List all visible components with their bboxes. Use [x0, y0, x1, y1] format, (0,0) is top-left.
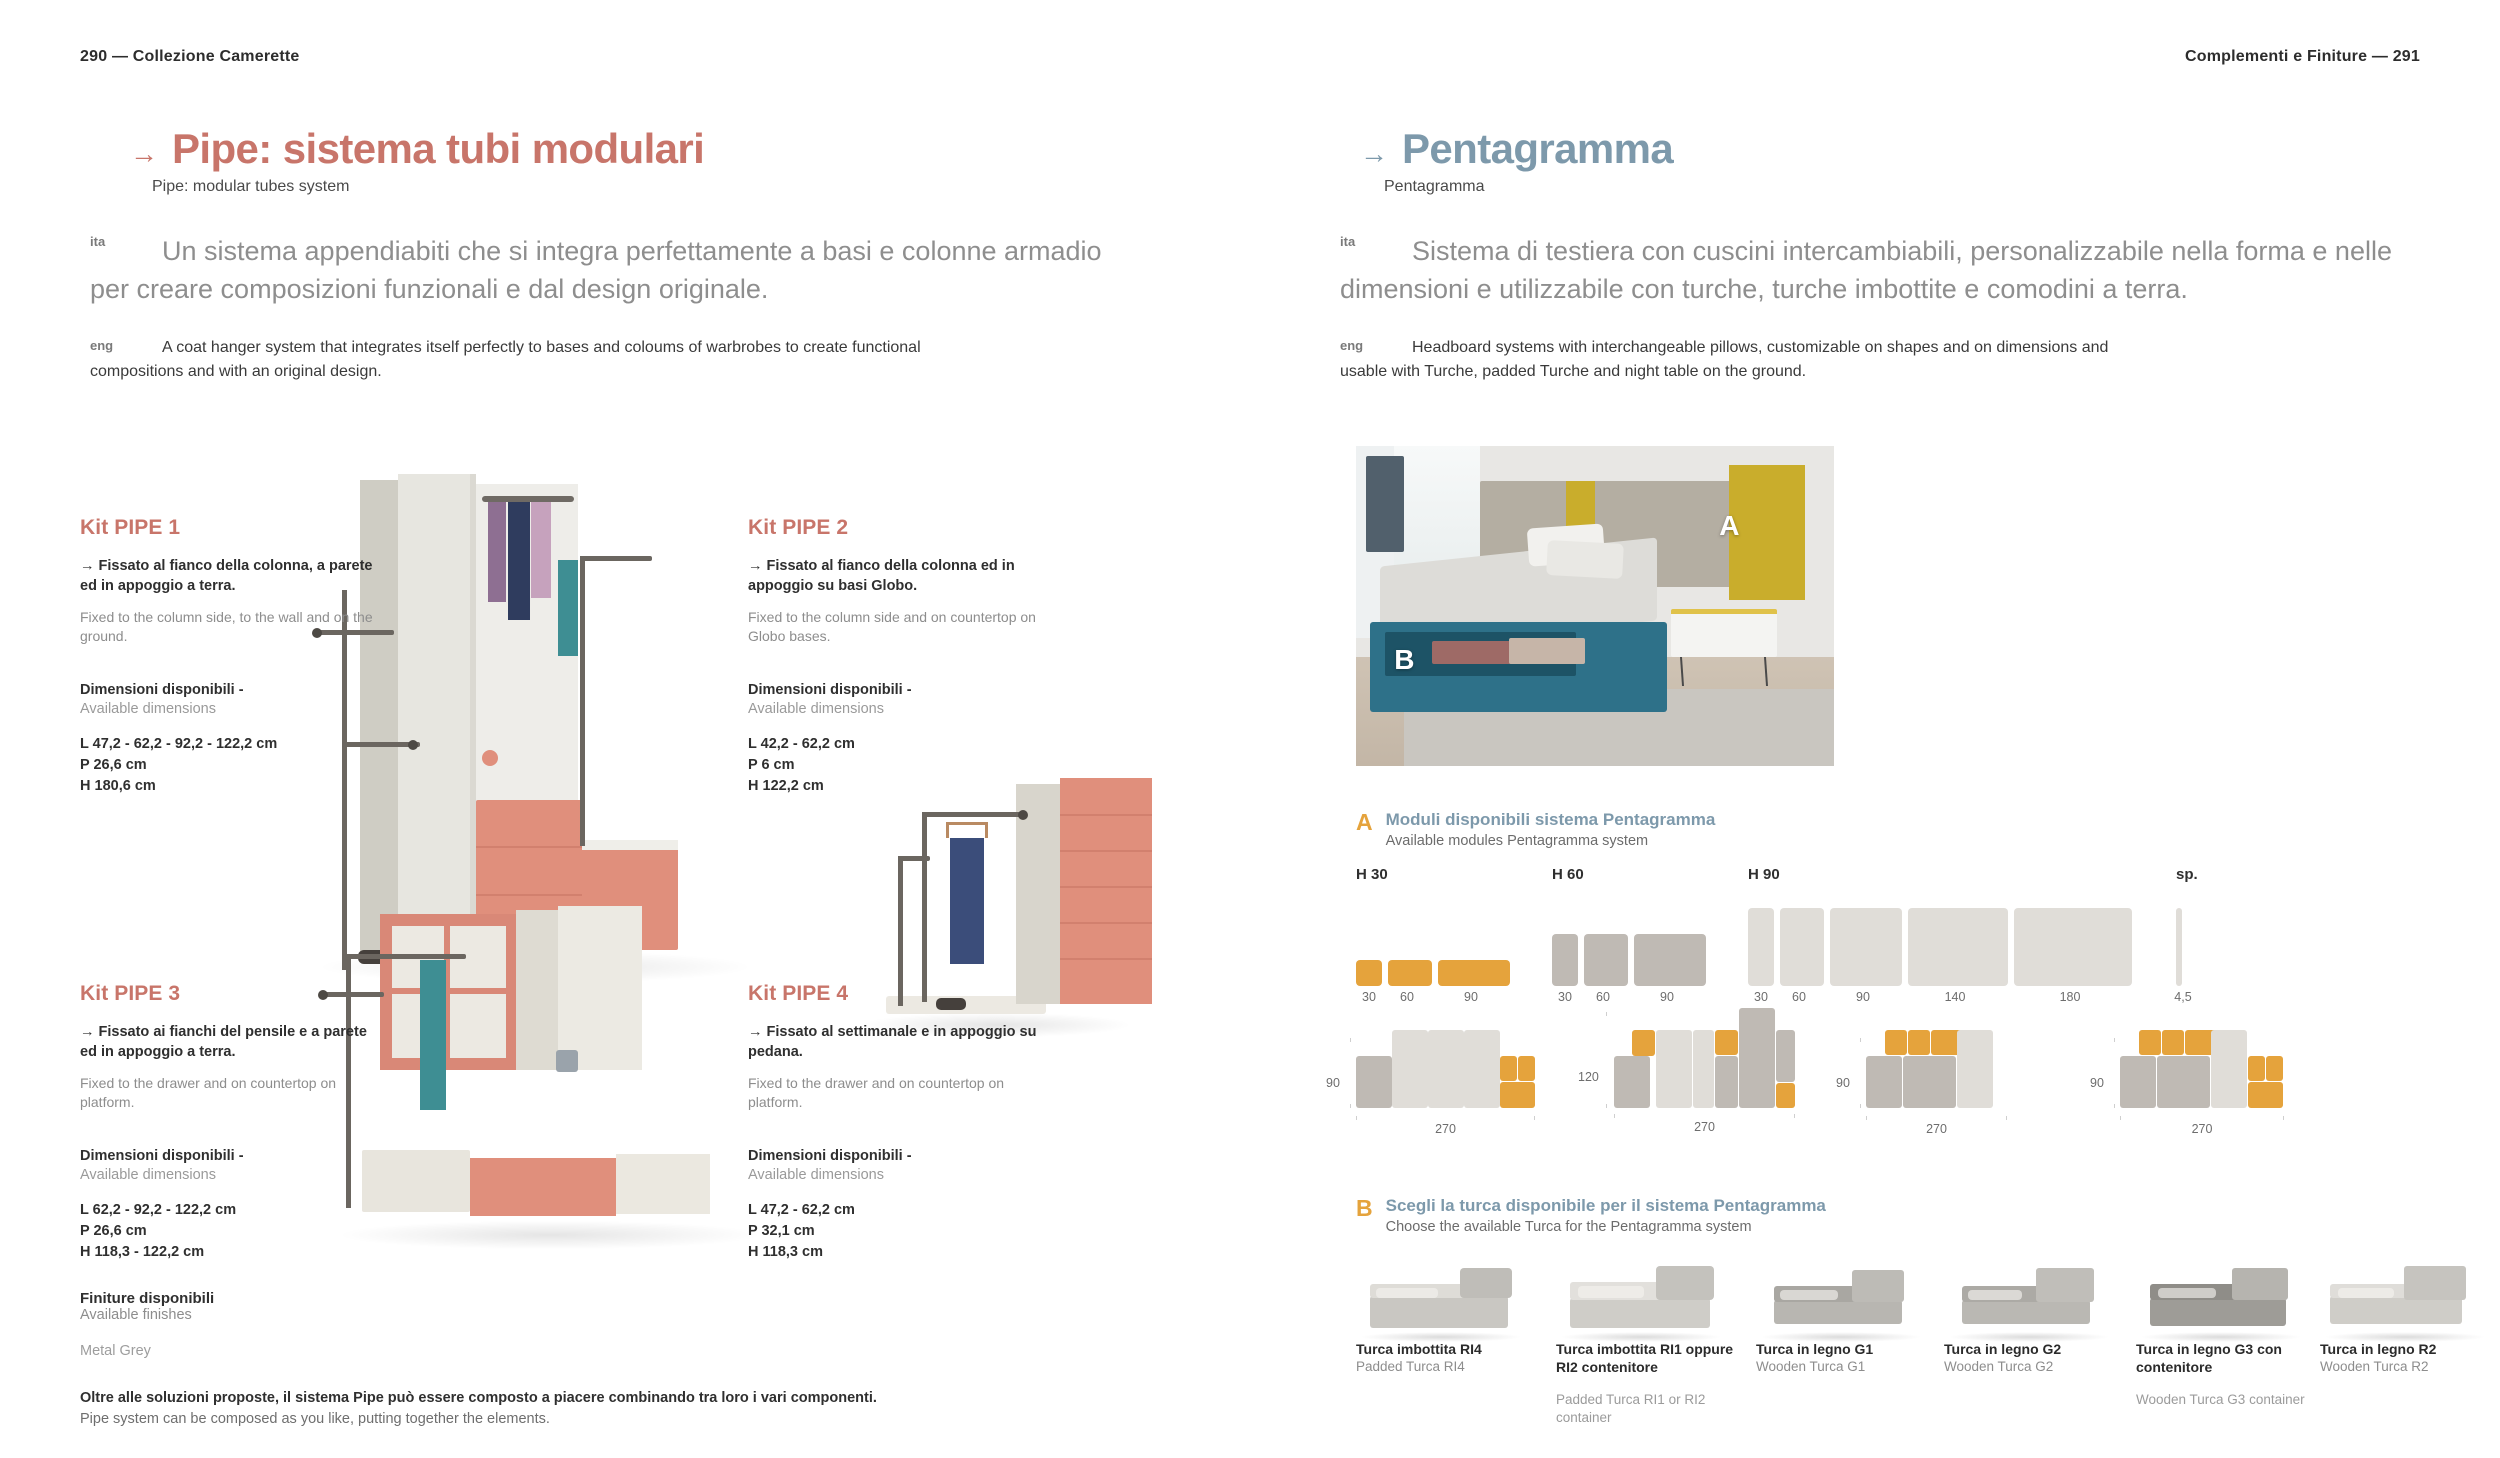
- module-tick-h30-30: 30: [1356, 990, 1382, 1004]
- module-tick-h90-60: 60: [1774, 990, 1824, 1004]
- section-a-heading: A Moduli disponibili sistema Pentagramma…: [1356, 810, 1715, 849]
- page-subtitle: Pentagramma: [1384, 178, 1485, 196]
- comp4-module-4: [2162, 1030, 2184, 1055]
- kit-4-dimensions: L 47,2 - 62,2 cm P 32,1 cm H 118,3 cm: [748, 1200, 1048, 1263]
- pipe-eng-paragraph: eng A coat hanger system that integrates…: [90, 336, 930, 384]
- comp4-module-3: [2139, 1030, 2161, 1055]
- composition-2-height-label: 120: [1578, 1070, 1599, 1084]
- catalog-spread: 290 — Collezione Camerette Complementi e…: [0, 0, 2500, 1458]
- module-h90-w30: [1748, 908, 1774, 986]
- pentagramma-ita-paragraph: ita Sistema di testiera con cuscini inte…: [1340, 232, 2430, 309]
- kit-4-title: Kit PIPE 4: [748, 982, 1048, 1006]
- kit-3-dim-h: H 118,3 - 122,2 cm: [80, 1242, 380, 1263]
- comp3-module-6: [1957, 1030, 1993, 1108]
- comp3-module-4: [1908, 1030, 1930, 1055]
- photo-marker-a: A: [1719, 510, 1739, 542]
- kit-block-2: Kit PIPE 2 → Fissato al fianco della col…: [748, 516, 1048, 797]
- kit-3-dimensions: L 62,2 - 92,2 - 122,2 cm P 26,6 cm H 118…: [80, 1200, 380, 1263]
- pentagramma-section-title: → Pentagramma: [1360, 125, 1673, 173]
- module-group-h90: H 90: [1748, 866, 1780, 883]
- module-row-h90: [1748, 908, 2132, 986]
- kit-1-dim-label-it: Dimensioni disponibili -: [80, 682, 244, 698]
- module-h90-w180: [2014, 908, 2132, 986]
- kit-2-desc-it: → Fissato al fianco della colonna ed in …: [748, 556, 1048, 596]
- kit-2-desc-en: Fixed to the column side and on countert…: [748, 608, 1048, 647]
- pipe-note-it: Oltre alle soluzioni proposte, il sistem…: [80, 1388, 1130, 1409]
- kit-4-dim-l: L 47,2 - 62,2 cm: [748, 1200, 1048, 1221]
- turca-3-image: [1756, 1262, 1926, 1340]
- comp4-module-6: [2211, 1030, 2247, 1108]
- page-title: Pentagramma: [1402, 125, 1673, 173]
- comp2-module-1: [1614, 1056, 1650, 1108]
- kit-2-dim-label-en: Available dimensions: [748, 700, 1048, 720]
- pentagramma-eng-paragraph: eng Headboard systems with interchangeab…: [1340, 336, 2140, 384]
- composition-2-canvas: [1614, 1008, 1794, 1108]
- composition-3-width-label: 270: [1866, 1122, 2007, 1136]
- turca-3-name-en: Wooden Turca G1: [1756, 1358, 1941, 1376]
- turca-option-1[interactable]: Turca imbottita RI4 Padded Turca RI4: [1356, 1262, 1541, 1376]
- pipe-ita-text: Un sistema appendiabiti che si integra p…: [90, 232, 1110, 309]
- section-a-title-en: Available modules Pentagramma system: [1386, 833, 1716, 849]
- kit-1-desc-it: → Fissato al fianco della colonna, a par…: [80, 556, 380, 596]
- comp4-module-9: [2248, 1082, 2283, 1108]
- turca-option-6[interactable]: Turca in legno R2 Wooden Turca R2: [2320, 1262, 2500, 1376]
- module-ticks-sp: 4,5: [2168, 990, 2208, 1004]
- kit-2-dim-p: P 6 cm: [748, 755, 1048, 776]
- finishes-block: Finiture disponibili Available finishes …: [80, 1290, 880, 1359]
- kit-3-desc-it: → Fissato ai fianchi del pensile e a par…: [80, 1022, 380, 1062]
- module-h90-w60: [1780, 908, 1824, 986]
- composition-3-canvas: [1866, 1030, 2036, 1108]
- photo-stored-linen-1: [1432, 641, 1513, 663]
- lang-tag-eng: eng: [90, 338, 113, 353]
- module-group-sp-label: sp.: [2176, 866, 2198, 883]
- photo-clothes-rail: [1366, 456, 1404, 552]
- comp2-module-9: [1776, 1083, 1795, 1108]
- kit-block-1: Kit PIPE 1 → Fissato al fianco della col…: [80, 516, 380, 797]
- kit-3-dim-l: L 62,2 - 92,2 - 122,2 cm: [80, 1200, 380, 1221]
- kit-block-4: Kit PIPE 4 → Fissato al settimanale e in…: [748, 982, 1048, 1263]
- kit-1-dim-l: L 47,2 - 62,2 - 92,2 - 122,2 cm: [80, 734, 380, 755]
- module-ticks-h30: 30 60 90: [1356, 990, 1516, 1004]
- photo-night-table-legs: [1680, 657, 1768, 686]
- pipe-note-block: Oltre alle soluzioni proposte, il sistem…: [80, 1388, 1130, 1430]
- module-h60-w60: [1584, 934, 1628, 986]
- module-tick-h30-60: 60: [1382, 990, 1432, 1004]
- turca-2-image: [1556, 1262, 1726, 1340]
- kit-3-dim-label-it: Dimensioni disponibili -: [80, 1148, 244, 1164]
- kit-4-dim-label-en: Available dimensions: [748, 1166, 1048, 1186]
- module-ticks-h90: 30 60 90 140 180: [1748, 990, 2148, 1004]
- turca-4-image: [1944, 1262, 2114, 1340]
- module-tick-h60-60: 60: [1578, 990, 1628, 1004]
- turca-6-name-en: Wooden Turca R2: [2320, 1358, 2500, 1376]
- composition-2-width-label: 270: [1614, 1120, 1795, 1134]
- turca-3-name-it: Turca in legno G1: [1756, 1340, 1941, 1358]
- photo-wall-yellow-panel: [1729, 465, 1805, 599]
- pipe-ita-paragraph: ita Un sistema appendiabiti che si integ…: [90, 232, 1110, 309]
- kit-4-desc-en: Fixed to the drawer and on countertop on…: [748, 1074, 1048, 1113]
- turca-5-image: [2136, 1262, 2306, 1340]
- comp2-module-2: [1632, 1030, 1655, 1056]
- section-b-letter: B: [1356, 1197, 1373, 1220]
- turca-6-name-it: Turca in legno R2: [2320, 1340, 2500, 1358]
- bedroom-photo: A B: [1356, 446, 1834, 766]
- comp2-module-6: [1715, 1030, 1738, 1055]
- module-h90-w90: [1830, 908, 1902, 986]
- kit-block-3: Kit PIPE 3 → Fissato ai fianchi del pens…: [80, 982, 380, 1263]
- module-group-h60-label: H 60: [1552, 866, 1584, 883]
- composition-4-height-label: 90: [2090, 1076, 2104, 1090]
- module-group-sp: sp.: [2176, 866, 2198, 883]
- photo-marker-b: B: [1394, 644, 1414, 676]
- kit-2-title: Kit PIPE 2: [748, 516, 1048, 540]
- module-h30-w30: [1356, 960, 1382, 986]
- left-page: → Pipe: sistema tubi modulari Pipe: modu…: [0, 0, 1250, 1458]
- kit-3-dim-label-en: Available dimensions: [80, 1166, 380, 1186]
- module-row-sp: [2176, 908, 2182, 986]
- kit-3-dim-p: P 26,6 cm: [80, 1221, 380, 1242]
- kit-3-desc-en: Fixed to the drawer and on countertop on…: [80, 1074, 380, 1113]
- kit-1-dim-h: H 180,6 cm: [80, 776, 380, 797]
- comp2-module-3: [1656, 1030, 1692, 1108]
- module-tick-h90-90: 90: [1824, 990, 1902, 1004]
- comp4-module-7: [2248, 1056, 2265, 1081]
- kit-1-desc-en: Fixed to the column side, to the wall an…: [80, 608, 380, 647]
- module-h60-w30: [1552, 934, 1578, 986]
- composition-4-width-label: 270: [2120, 1122, 2284, 1136]
- pipe-note-en: Pipe system can be composed as you like,…: [80, 1409, 1130, 1430]
- comp1-module-1: [1356, 1056, 1392, 1108]
- kit-2-dim-l: L 42,2 - 62,2 cm: [748, 734, 1048, 755]
- turca-2-name-it: Turca imbottita RI1 oppure RI2 contenito…: [1556, 1340, 1741, 1377]
- finishes-label-en: Available finishes: [80, 1307, 880, 1323]
- turca-1-name-it: Turca imbottita RI4: [1356, 1340, 1541, 1358]
- module-h90-w140: [1908, 908, 2008, 986]
- module-tick-h30-90: 90: [1432, 990, 1510, 1004]
- module-group-h30-label: H 30: [1356, 866, 1388, 883]
- turca-2-name-en: Padded Turca RI1 or RI2 container: [1556, 1391, 1741, 1427]
- comp4-module-2: [2157, 1056, 2210, 1108]
- composition-1-width-label: 270: [1356, 1122, 1535, 1136]
- composition-1-height-label: 90: [1326, 1076, 1340, 1090]
- section-a-letter: A: [1356, 811, 1373, 834]
- comp1-module-4: [1464, 1030, 1500, 1108]
- module-tick-h90-140: 140: [1902, 990, 2008, 1004]
- turca-4-name-it: Turca in legno G2: [1944, 1340, 2129, 1358]
- kit-4-dim-h: H 118,3 cm: [748, 1242, 1048, 1263]
- section-a-title-it: Moduli disponibili sistema Pentagramma: [1386, 810, 1716, 830]
- module-ticks-h60: 30 60 90: [1552, 990, 1712, 1004]
- page-subtitle: Pipe: modular tubes system: [152, 178, 349, 196]
- module-group-h90-label: H 90: [1748, 866, 1780, 883]
- comp3-module-3: [1885, 1030, 1907, 1055]
- module-h60-w90: [1634, 934, 1706, 986]
- turca-4-name-en: Wooden Turca G2: [1944, 1358, 2129, 1376]
- module-group-h30: H 30: [1356, 866, 1388, 883]
- lang-tag-eng: eng: [1340, 338, 1363, 353]
- comp1-module-5: [1500, 1056, 1517, 1081]
- kit-2-dim-h: H 122,2 cm: [748, 776, 1048, 797]
- kit-1-dim-label-en: Available dimensions: [80, 700, 380, 720]
- turca-option-5[interactable]: Turca in legno G3 con contenitore Wooden…: [2136, 1262, 2321, 1409]
- comp2-module-4: [1693, 1030, 1714, 1108]
- comp2-module-8: [1776, 1030, 1795, 1082]
- turca-option-4[interactable]: Turca in legno G2 Wooden Turca G2: [1944, 1262, 2129, 1376]
- module-tick-sp-4-5: 4,5: [2168, 990, 2198, 1004]
- page-title: Pipe: sistema tubi modulari: [172, 125, 704, 173]
- module-tick-h90-180: 180: [2008, 990, 2132, 1004]
- photo-stored-linen-2: [1509, 638, 1585, 664]
- finishes-value: Metal Grey: [80, 1343, 880, 1359]
- comp1-module-7: [1500, 1082, 1535, 1108]
- module-group-h60: H 60: [1552, 866, 1584, 883]
- composition-4-canvas: [2120, 1030, 2300, 1108]
- pipe-section-title: → Pipe: sistema tubi modulari: [130, 125, 704, 173]
- lang-tag-ita: ita: [1340, 234, 1355, 249]
- comp4-module-1: [2120, 1056, 2156, 1108]
- kit-1-dim-label: Dimensioni disponibili - Available dimen…: [80, 681, 380, 720]
- arrow-icon: →: [130, 140, 158, 168]
- comp3-module-1: [1866, 1056, 1902, 1108]
- turca-6-image: [2320, 1262, 2490, 1340]
- pipe-eng-text: A coat hanger system that integrates its…: [90, 336, 930, 384]
- pentagramma-ita-text: Sistema di testiera con cuscini intercam…: [1340, 232, 2430, 309]
- photo-night-table: [1671, 609, 1776, 657]
- comp1-module-3: [1428, 1030, 1464, 1108]
- comp3-module-2: [1903, 1056, 1956, 1108]
- turca-1-image: [1356, 1262, 1526, 1340]
- kit-4-desc-it: → Fissato al settimanale e in appoggio s…: [748, 1022, 1048, 1062]
- pentagramma-eng-text: Headboard systems with interchangeable p…: [1340, 336, 2140, 384]
- comp2-module-7: [1739, 1008, 1775, 1108]
- kit-1-title: Kit PIPE 1: [80, 516, 380, 540]
- comp1-module-2: [1392, 1030, 1428, 1108]
- module-h30-w60: [1388, 960, 1432, 986]
- module-tick-h90-30: 30: [1748, 990, 1774, 1004]
- arrow-icon: →: [1360, 140, 1388, 168]
- module-tick-h60-90: 90: [1628, 990, 1706, 1004]
- photo-pillow-2: [1546, 540, 1624, 579]
- kit-2-dimensions: L 42,2 - 62,2 cm P 6 cm H 122,2 cm: [748, 734, 1048, 797]
- composition-3-height-label: 90: [1836, 1076, 1850, 1090]
- module-row-h60: [1552, 934, 1706, 986]
- module-tick-h60-30: 30: [1552, 990, 1578, 1004]
- comp1-module-6: [1518, 1056, 1535, 1081]
- finishes-label-it: Finiture disponibili: [80, 1290, 880, 1307]
- kit-2-dim-label-it: Dimensioni disponibili -: [748, 682, 912, 698]
- kit-2-dim-label: Dimensioni disponibili - Available dimen…: [748, 681, 1048, 720]
- comp4-module-8: [2266, 1056, 2283, 1081]
- composition-1-canvas: [1356, 1030, 1526, 1108]
- kit-3-dim-label: Dimensioni disponibili - Available dimen…: [80, 1147, 380, 1186]
- turca-option-2[interactable]: Turca imbottita RI1 oppure RI2 contenito…: [1556, 1262, 1741, 1427]
- section-b-heading: B Scegli la turca disponibile per il sis…: [1356, 1196, 1826, 1235]
- module-sp-w4_5: [2176, 908, 2182, 986]
- kit-1-dimensions: L 47,2 - 62,2 - 92,2 - 122,2 cm P 26,6 c…: [80, 734, 380, 797]
- kit-3-title: Kit PIPE 3: [80, 982, 380, 1006]
- turca-5-name-en: Wooden Turca G3 container: [2136, 1391, 2321, 1409]
- kit-1-dim-p: P 26,6 cm: [80, 755, 380, 776]
- section-b-title-en: Choose the available Turca for the Penta…: [1386, 1219, 1826, 1235]
- turca-5-name-it: Turca in legno G3 con contenitore: [2136, 1340, 2321, 1377]
- kit-4-dim-label: Dimensioni disponibili - Available dimen…: [748, 1147, 1048, 1186]
- kit-4-dim-p: P 32,1 cm: [748, 1221, 1048, 1242]
- module-h30-w90: [1438, 960, 1510, 986]
- comp2-module-5: [1715, 1056, 1738, 1108]
- kit-4-dim-label-it: Dimensioni disponibili -: [748, 1148, 912, 1164]
- lang-tag-ita: ita: [90, 234, 105, 249]
- module-row-h30: [1356, 960, 1510, 986]
- turca-option-3[interactable]: Turca in legno G1 Wooden Turca G1: [1756, 1262, 1941, 1376]
- section-b-title-it: Scegli la turca disponibile per il siste…: [1386, 1196, 1826, 1216]
- turca-1-name-en: Padded Turca RI4: [1356, 1358, 1541, 1376]
